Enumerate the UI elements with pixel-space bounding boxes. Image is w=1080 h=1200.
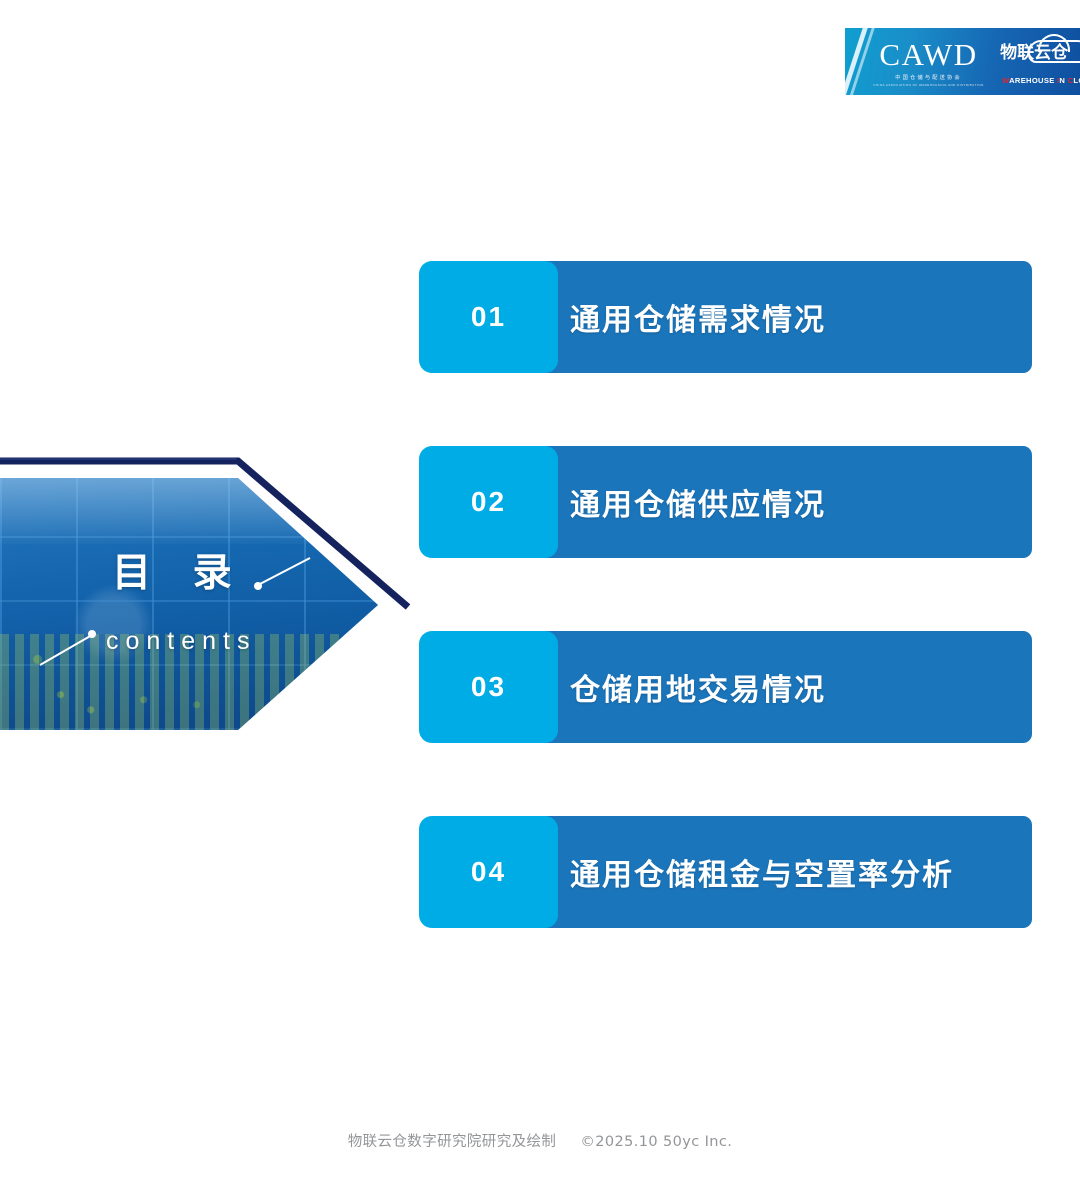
- cloud-icon: 物联云仓: [1000, 39, 1080, 75]
- wic-brand-en-loud: LOUD: [1073, 76, 1080, 85]
- toc-item-04-number: 04: [471, 856, 506, 888]
- toc-item-03-label: 仓储用地交易情况: [570, 631, 826, 743]
- toc-item-02-number: 02: [471, 486, 506, 518]
- footer-credit: 物联云仓数字研究院研究及绘制: [348, 1134, 557, 1150]
- slash-decoration-icon: [845, 28, 871, 95]
- wic-brand-en-n: N: [1059, 76, 1067, 85]
- cawd-logo: CAWD 中国仓储与配送协会 CHINA ASSOCIATION OF WARE…: [871, 28, 986, 95]
- toc-item-04-label: 通用仓储租金与空置率分析: [570, 816, 954, 928]
- toc-item-01-number: 01: [471, 301, 506, 333]
- cawd-acronym: CAWD: [879, 39, 977, 70]
- toc-item-03[interactable]: 03 仓储用地交易情况: [419, 631, 1032, 743]
- cawd-chinese-subtitle: 中国仓储与配送协会: [895, 74, 962, 81]
- footer-copyright: ©2025.10 50yc Inc.: [580, 1134, 732, 1150]
- wic-brand-en-arehouse: AREHOUSE: [1009, 76, 1057, 85]
- toc-item-02[interactable]: 02 通用仓储供应情况: [419, 446, 1032, 558]
- toc-item-03-number-block: 03: [419, 631, 558, 743]
- footer: 物联云仓数字研究院研究及绘制 ©2025.10 50yc Inc.: [0, 1130, 1080, 1151]
- slide-table-of-contents: CAWD 中国仓储与配送协会 CHINA ASSOCIATION OF WARE…: [0, 0, 1080, 1200]
- toc-item-04[interactable]: 04 通用仓储租金与空置率分析: [419, 816, 1032, 928]
- cawd-english-subtitle: CHINA ASSOCIATION OF WAREHOUSING AND DIS…: [873, 83, 983, 87]
- toc-item-03-number: 03: [471, 671, 506, 703]
- toc-item-01[interactable]: 01 通用仓储需求情况: [419, 261, 1032, 373]
- header-logo-bar: CAWD 中国仓储与配送协会 CHINA ASSOCIATION OF WARE…: [845, 28, 1080, 95]
- toc-item-04-number-block: 04: [419, 816, 558, 928]
- toc-item-02-label: 通用仓储供应情况: [570, 446, 826, 558]
- toc-item-01-number-block: 01: [419, 261, 558, 373]
- toc-item-01-label: 通用仓储需求情况: [570, 261, 826, 373]
- wic-logo: 物联云仓 WAREHOUSE IN CLOUD: [1000, 28, 1080, 95]
- connector-dots-icon: [0, 455, 420, 745]
- wic-brand-en: WAREHOUSE IN CLOUD: [1002, 76, 1080, 85]
- wic-brand-cn: 物联云仓: [1000, 45, 1072, 62]
- toc-item-02-number-block: 02: [419, 446, 558, 558]
